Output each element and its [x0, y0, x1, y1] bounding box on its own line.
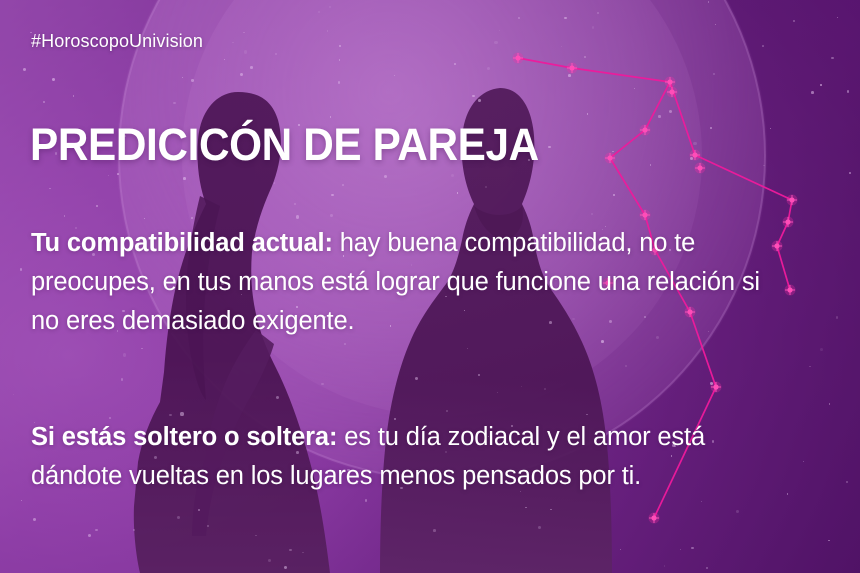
horoscope-card: #HoroscopoUnivision PREDICICÓN DE PAREJA… — [0, 0, 860, 573]
paragraph-compatibilidad: Tu compatibilidad actual: hay buena comp… — [31, 224, 791, 341]
paragraph-lead-compatibilidad: Tu compatibilidad actual: — [31, 229, 333, 257]
hashtag-label: #HoroscopoUnivision — [31, 31, 203, 52]
paragraph-lead-soltero: Si estás soltero o soltera: — [31, 423, 337, 451]
page-title: PREDICICÓN DE PAREJA — [30, 122, 539, 167]
card-content: #HoroscopoUnivision PREDICICÓN DE PAREJA… — [0, 0, 860, 573]
paragraph-soltero: Si estás soltero o soltera: es tu día zo… — [31, 418, 791, 496]
